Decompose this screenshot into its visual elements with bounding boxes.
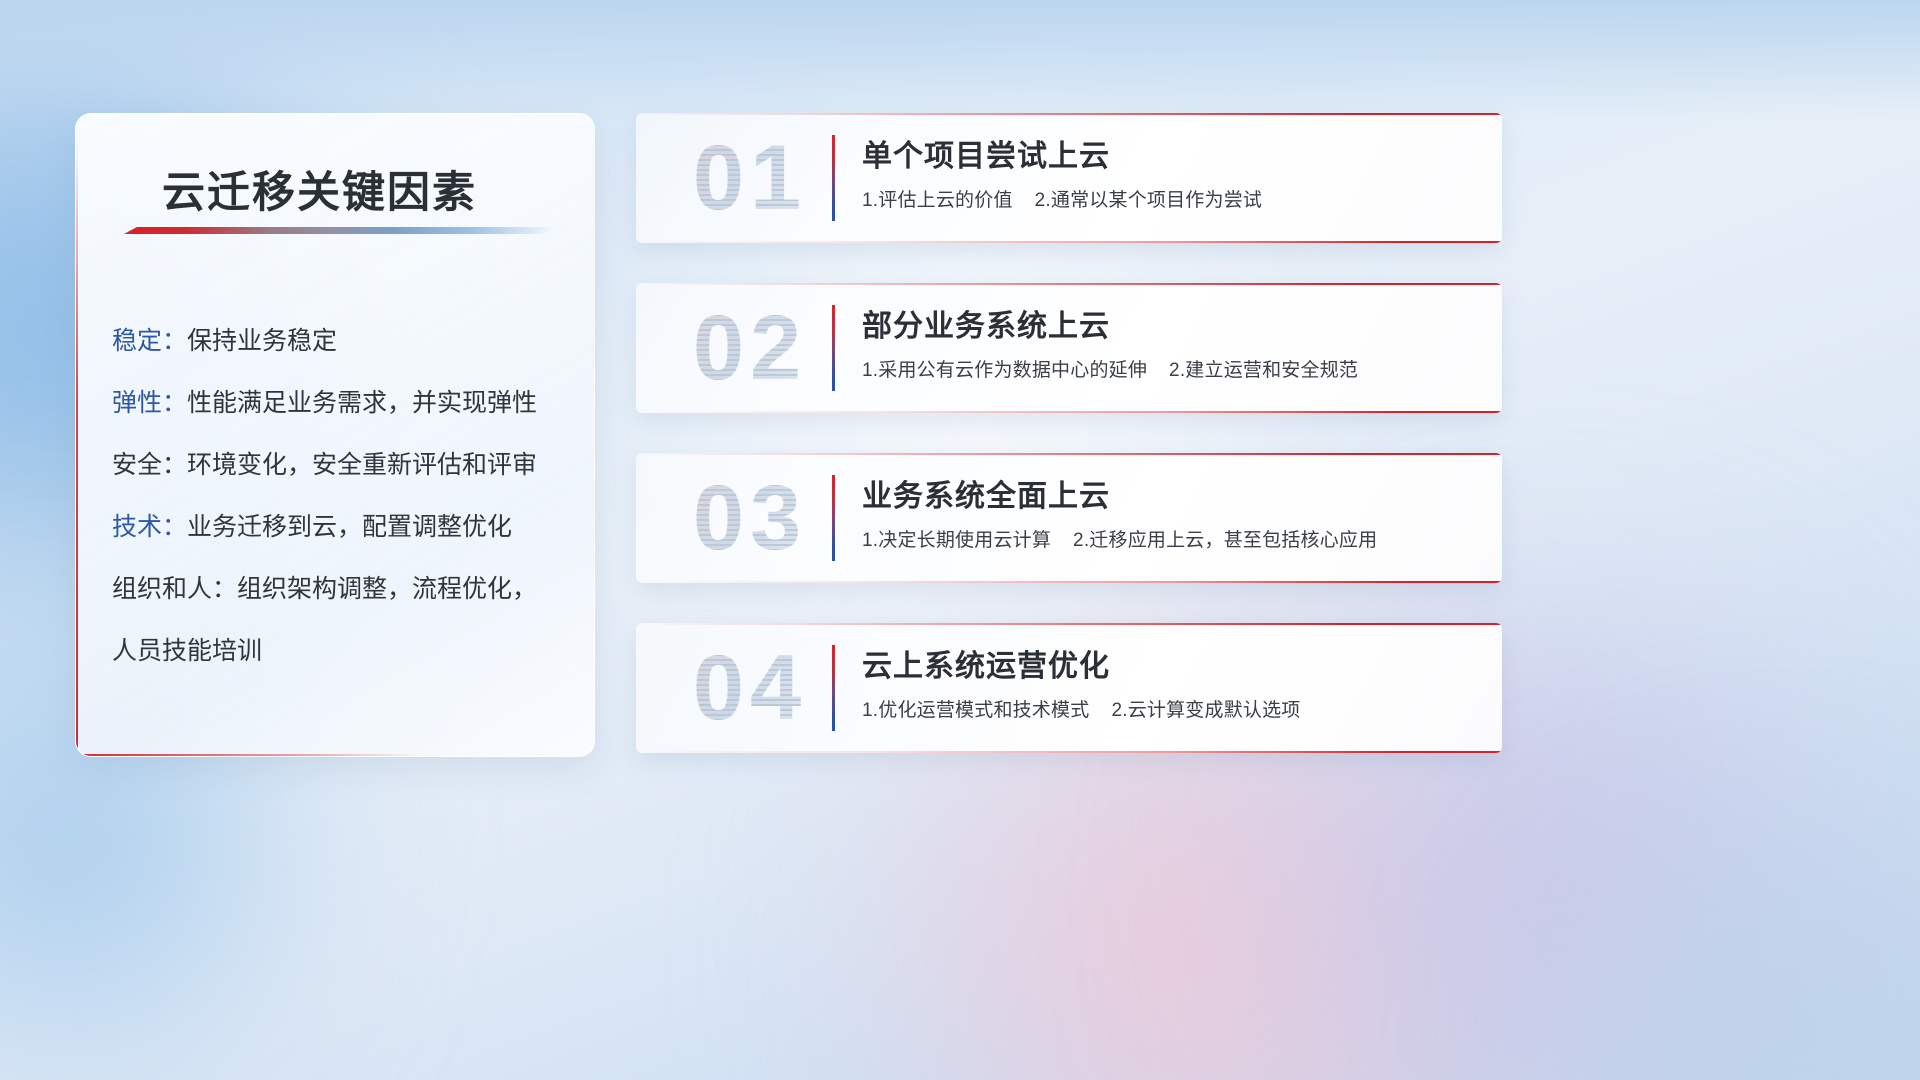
step-description: 1.优化运营模式和技术模式2.云计算变成默认选项 bbox=[862, 695, 1301, 722]
list-item-text: 性能满足业务需求，并实现弹性 bbox=[187, 389, 537, 417]
list-item-label: 弹性： bbox=[112, 389, 187, 417]
step-divider-bar bbox=[832, 645, 835, 731]
card-top-accent bbox=[636, 623, 1502, 625]
key-factors-card: 云迁移关键因素 稳定：保持业务稳定 弹性：性能满足业务需求，并实现弹性 安全：环… bbox=[75, 113, 595, 757]
list-item: 组织和人：组织架构调整，流程优化， bbox=[112, 558, 570, 620]
list-item: 安全：环境变化，安全重新评估和评审 bbox=[112, 434, 570, 496]
page-title: 云迁移关键因素 bbox=[162, 158, 477, 220]
step-description: 1.采用公有云作为数据中心的延伸2.建立运营和安全规范 bbox=[862, 355, 1358, 382]
card-top-accent bbox=[636, 453, 1502, 455]
migration-steps-list: 01 单个项目尝试上云 1.评估上云的价值2.通常以某个项目作为尝试 02 部分… bbox=[636, 113, 1502, 793]
step-divider-bar bbox=[832, 305, 835, 391]
list-item-label: 组织和人： bbox=[112, 575, 237, 603]
list-item: 稳定：保持业务稳定 bbox=[112, 310, 570, 372]
step-number-glyph: 02 bbox=[662, 294, 838, 402]
step-point-1: 1.采用公有云作为数据中心的延伸 bbox=[862, 360, 1147, 381]
list-item: 技术：业务迁移到云，配置调整优化 bbox=[112, 496, 570, 558]
card-bottom-accent bbox=[636, 751, 1502, 753]
step-point-1: 1.优化运营模式和技术模式 bbox=[862, 700, 1089, 721]
step-point-1: 1.评估上云的价值 bbox=[862, 190, 1013, 211]
card-bottom-accent-bar bbox=[76, 754, 418, 756]
card-left-accent-bar bbox=[76, 136, 78, 756]
list-item: 弹性：性能满足业务需求，并实现弹性 bbox=[112, 372, 570, 434]
list-item-label: 安全： bbox=[112, 451, 187, 479]
step-title: 云上系统运营优化 bbox=[862, 641, 1110, 685]
list-item-text: 保持业务稳定 bbox=[187, 327, 337, 355]
list-item-text: 组织架构调整，流程优化， bbox=[237, 575, 537, 603]
step-point-1: 1.决定长期使用云计算 bbox=[862, 530, 1051, 551]
key-factors-list: 稳定：保持业务稳定 弹性：性能满足业务需求，并实现弹性 安全：环境变化，安全重新… bbox=[112, 310, 570, 682]
step-title: 单个项目尝试上云 bbox=[862, 131, 1110, 175]
step-description: 1.评估上云的价值2.通常以某个项目作为尝试 bbox=[862, 185, 1262, 212]
step-point-2: 2.云计算变成默认选项 bbox=[1111, 700, 1300, 721]
step-title: 部分业务系统上云 bbox=[862, 301, 1110, 345]
title-underline bbox=[124, 227, 556, 234]
step-number-glyph: 03 bbox=[662, 464, 838, 572]
step-card-03[interactable]: 03 业务系统全面上云 1.决定长期使用云计算2.迁移应用上云，甚至包括核心应用 bbox=[636, 453, 1502, 583]
step-card-04[interactable]: 04 云上系统运营优化 1.优化运营模式和技术模式2.云计算变成默认选项 bbox=[636, 623, 1502, 753]
card-bottom-accent bbox=[636, 581, 1502, 583]
step-point-2: 2.通常以某个项目作为尝试 bbox=[1035, 190, 1262, 211]
step-description: 1.决定长期使用云计算2.迁移应用上云，甚至包括核心应用 bbox=[862, 525, 1377, 552]
step-divider-bar bbox=[832, 475, 835, 561]
step-divider-bar bbox=[832, 135, 835, 221]
card-bottom-accent bbox=[636, 241, 1502, 243]
card-top-accent bbox=[636, 113, 1502, 115]
step-point-2: 2.建立运营和安全规范 bbox=[1169, 360, 1358, 381]
step-point-2: 2.迁移应用上云，甚至包括核心应用 bbox=[1073, 530, 1377, 551]
list-item-label: 稳定： bbox=[112, 327, 187, 355]
card-top-accent bbox=[636, 283, 1502, 285]
step-number-glyph: 01 bbox=[662, 124, 838, 232]
step-card-01[interactable]: 01 单个项目尝试上云 1.评估上云的价值2.通常以某个项目作为尝试 bbox=[636, 113, 1502, 243]
step-card-02[interactable]: 02 部分业务系统上云 1.采用公有云作为数据中心的延伸2.建立运营和安全规范 bbox=[636, 283, 1502, 413]
step-number-glyph: 04 bbox=[662, 634, 838, 742]
background-top-stripe bbox=[0, 0, 1920, 120]
list-item-continuation: 人员技能培训 bbox=[112, 620, 570, 682]
step-title: 业务系统全面上云 bbox=[862, 471, 1110, 515]
card-bottom-accent bbox=[636, 411, 1502, 413]
list-item-text: 业务迁移到云，配置调整优化 bbox=[187, 513, 512, 541]
list-item-text: 环境变化，安全重新评估和评审 bbox=[187, 451, 537, 479]
list-item-text: 人员技能培训 bbox=[112, 637, 262, 665]
list-item-label: 技术： bbox=[112, 513, 187, 541]
